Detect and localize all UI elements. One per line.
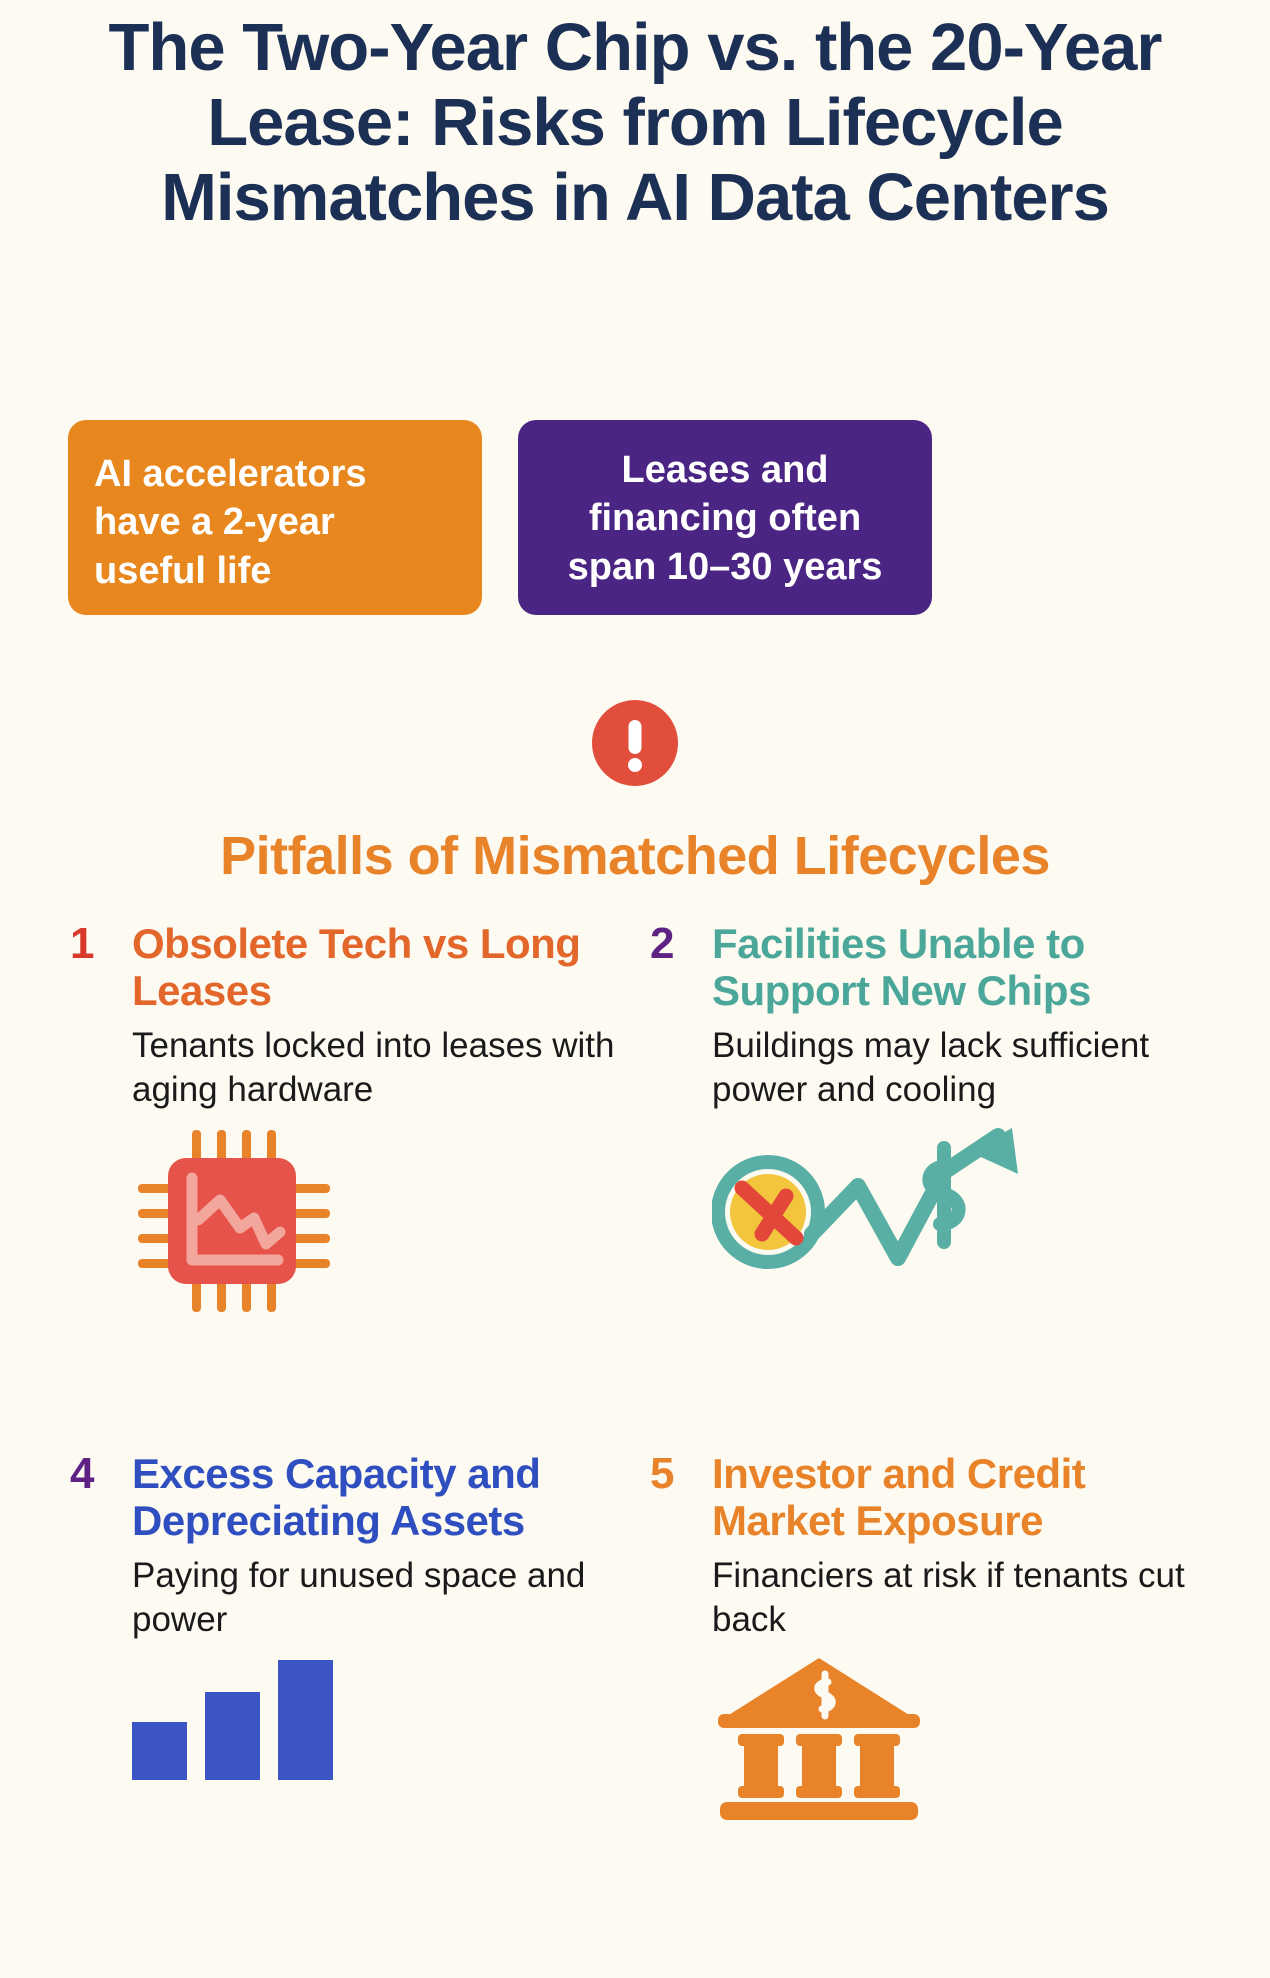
pitfall-item-4: 4 Excess Capacity and Depreciating Asset… xyxy=(70,1450,640,1786)
pitfalls-row-1: 1 Obsolete Tech vs Long Leases Tenants l… xyxy=(0,920,1270,1450)
pitfall-1-body: Tenants locked into leases with aging ha… xyxy=(70,1024,640,1112)
pitfall-2-title: Facilities Unable to Support New Chips xyxy=(712,920,1091,1014)
exclamation-dot xyxy=(628,758,642,772)
pitfall-5-title: Investor and Credit Market Exposure xyxy=(712,1450,1085,1544)
no-entry-clock-and-dollar-trend-arrow-icon xyxy=(712,1126,1042,1301)
pitfalls-row-2: 4 Excess Capacity and Depreciating Asset… xyxy=(0,1450,1270,1960)
pitfall-4-title: Excess Capacity and Depreciating Assets xyxy=(132,1450,540,1544)
pitfall-4-body: Paying for unused space and power xyxy=(70,1554,640,1642)
cpu-chip-declining-chart-icon xyxy=(132,1126,332,1316)
pitfall-2-icon-slot xyxy=(650,1126,1220,1306)
page-title: The Two-Year Chip vs. the 20-Year Lease:… xyxy=(60,10,1210,235)
fact-box-orange-text: AI accelerators have a 2-year useful lif… xyxy=(94,453,367,592)
pitfall-1-number: 1 xyxy=(70,922,94,966)
pitfall-4-head: 4 Excess Capacity and Depreciating Asset… xyxy=(70,1450,640,1544)
section-heading: Pitfalls of Mismatched Lifecycles xyxy=(0,825,1270,887)
pitfall-4-number: 4 xyxy=(70,1452,94,1496)
pitfall-2-number: 2 xyxy=(650,922,674,966)
key-facts-row: AI accelerators have a 2-year useful lif… xyxy=(0,420,1270,625)
alert-badge-wrap xyxy=(0,700,1270,791)
exclamation-bar xyxy=(629,720,642,754)
pitfall-5-icon-slot xyxy=(650,1656,1220,1826)
pitfall-1-icon-slot xyxy=(70,1126,640,1321)
pitfall-5-head: 5 Investor and Credit Market Exposure xyxy=(650,1450,1220,1544)
exclamation-circle-icon xyxy=(592,700,678,786)
infographic-page: The Two-Year Chip vs. the 20-Year Lease:… xyxy=(0,0,1270,1978)
pitfall-2-head: 2 Facilities Unable to Support New Chips xyxy=(650,920,1220,1014)
pitfall-1-head: 1 Obsolete Tech vs Long Leases xyxy=(70,920,640,1014)
pitfall-5-number: 5 xyxy=(650,1452,674,1496)
pitfall-item-5: 5 Investor and Credit Market Exposure Fi… xyxy=(650,1450,1220,1826)
pitfall-1-title: Obsolete Tech vs Long Leases xyxy=(132,920,580,1014)
pitfall-2-body: Buildings may lack sufficient power and … xyxy=(650,1024,1220,1112)
bank-building-dollar-icon xyxy=(712,1656,927,1821)
ascending-bar-chart-icon xyxy=(132,1656,342,1781)
pitfall-item-1: 1 Obsolete Tech vs Long Leases Tenants l… xyxy=(70,920,640,1321)
fact-box-accelerator-life: AI accelerators have a 2-year useful lif… xyxy=(68,420,482,615)
pitfall-5-body: Financiers at risk if tenants cut back xyxy=(650,1554,1220,1642)
fact-box-purple-text: Leases and financing often span 10–30 ye… xyxy=(568,449,883,588)
pitfalls-grid: 1 Obsolete Tech vs Long Leases Tenants l… xyxy=(0,920,1270,1960)
fact-box-lease-span: Leases and financing often span 10–30 ye… xyxy=(518,420,932,615)
pitfall-4-icon-slot xyxy=(70,1656,640,1786)
pitfall-item-2: 2 Facilities Unable to Support New Chips… xyxy=(650,920,1220,1306)
